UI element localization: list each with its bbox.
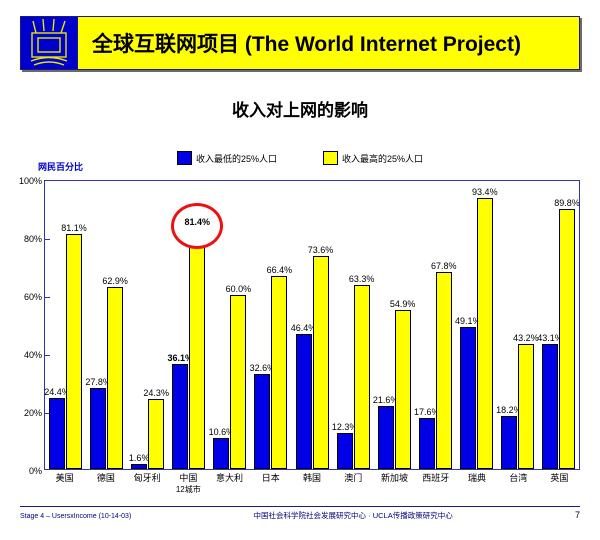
bar-group: 17.6%67.8% <box>415 181 456 469</box>
bar: 49.1% <box>460 327 476 469</box>
bar: 60.0% <box>230 295 246 469</box>
bar-value-label: 1.6% <box>129 453 150 463</box>
header-banner: 全球互联网项目 (The World Internet Project) <box>20 16 580 70</box>
y-axis-tick-label: 40% <box>24 350 42 360</box>
footer-left-text: Stage 4 – UsersxIncome (10-14-03) <box>20 513 131 520</box>
bar-group: 32.6%66.4% <box>250 181 291 469</box>
bar: 67.8% <box>436 272 452 469</box>
bar-value-label: 63.3% <box>349 274 375 284</box>
bar: 43.2% <box>518 344 534 469</box>
footer-center-text: 中国社会科学院社会发展研究中心 · UCLA传播政策研究中心 <box>131 510 575 521</box>
bar-value-label: 73.6% <box>308 245 334 255</box>
bar-value-label: 54.9% <box>390 299 416 309</box>
bar: 89.8% <box>559 209 575 469</box>
bar-group: 18.2%43.2% <box>497 181 538 469</box>
bar-value-label: 93.4% <box>472 187 498 197</box>
legend-label-high-income: 收入最高的25%人口 <box>342 152 423 165</box>
bar: 36.1% <box>172 364 188 469</box>
legend-swatch-yellow-icon <box>323 151 338 165</box>
bar-value-label: 43.2% <box>513 333 539 343</box>
x-axis-label: 澳门 <box>333 473 374 495</box>
bar-group: 1.6%24.3% <box>127 181 168 469</box>
y-axis-tick-label: 20% <box>24 408 42 418</box>
y-axis-tick-label: 0% <box>29 466 42 476</box>
bar <box>189 233 205 469</box>
y-axis-tick-label: 100% <box>19 176 42 186</box>
x-axis-label: 西班牙 <box>415 473 456 495</box>
x-axis-label: 中国12城市 <box>168 473 209 495</box>
bar-group: 24.4%81.1% <box>45 181 86 469</box>
bar: 1.6% <box>131 464 147 469</box>
bar-value-label: 67.8% <box>431 261 457 271</box>
chart-plot-area: 0%20%40%60%80%100% 24.4%81.1%27.8%62.9%1… <box>44 180 580 470</box>
footer-divider <box>20 506 580 507</box>
bar-group: 12.3%63.3% <box>333 181 374 469</box>
legend-item-low-income: 收入最低的25%人口 <box>177 151 277 165</box>
y-axis-caption: 网民百分比 <box>38 160 83 173</box>
bar: 21.6% <box>378 406 394 469</box>
bar: 17.6% <box>419 418 435 469</box>
bar: 46.4% <box>296 334 312 469</box>
x-axis-label: 英国 <box>539 473 580 495</box>
bar-value-label: 66.4% <box>267 265 293 275</box>
bar: 93.4% <box>477 198 493 469</box>
chart-legend: 收入最低的25%人口 收入最高的25%人口 <box>0 151 600 165</box>
bar: 62.9% <box>107 287 123 469</box>
bar: 81.1% <box>66 234 82 469</box>
x-axis-label: 美国 <box>44 473 85 495</box>
x-axis-label: 意大利 <box>209 473 250 495</box>
bar: 43.1% <box>542 344 558 469</box>
x-axis-sublabel: 12城市 <box>168 484 209 495</box>
bar-group: 46.4%73.6% <box>291 181 332 469</box>
bar: 54.9% <box>395 310 411 469</box>
legend-item-high-income: 收入最高的25%人口 <box>323 151 423 165</box>
banner-title: 全球互联网项目 (The World Internet Project) <box>78 17 579 69</box>
x-axis-label: 德国 <box>85 473 126 495</box>
x-axis-label: 台湾 <box>498 473 539 495</box>
x-axis-label: 匈牙利 <box>126 473 167 495</box>
legend-label-low-income: 收入最低的25%人口 <box>196 152 277 165</box>
bar-value-label: 60.0% <box>226 284 252 294</box>
bar-group: 43.1%89.8% <box>538 181 579 469</box>
bar: 32.6% <box>254 374 270 469</box>
x-axis-label: 韩国 <box>291 473 332 495</box>
footer-page-number: 7 <box>575 510 580 520</box>
y-axis-tick-label: 80% <box>24 234 42 244</box>
x-axis-label: 瑞典 <box>456 473 497 495</box>
monitor-globe-icon <box>21 17 78 69</box>
bar-groups: 24.4%81.1%27.8%62.9%1.6%24.3%36.1%10.6%6… <box>45 181 579 469</box>
bar: 12.3% <box>337 433 353 469</box>
bar: 27.8% <box>90 388 106 469</box>
bar: 24.3% <box>148 399 164 469</box>
bar: 63.3% <box>354 285 370 469</box>
bar: 73.6% <box>313 256 329 469</box>
bar: 24.4% <box>49 398 65 469</box>
bar-value-label: 62.9% <box>102 276 128 286</box>
footer: Stage 4 – UsersxIncome (10-14-03) 中国社会科学… <box>20 510 580 521</box>
x-axis-labels: 美国德国匈牙利中国12城市意大利日本韩国澳门新加坡西班牙瑞典台湾英国 <box>44 473 580 495</box>
bar-group: 49.1%93.4% <box>456 181 497 469</box>
bar-value-label: 24.3% <box>143 388 169 398</box>
bar-value-label: 81.1% <box>61 223 87 233</box>
bar: 66.4% <box>271 276 287 469</box>
highlight-value-label: 81.4% <box>171 217 223 227</box>
bar: 10.6% <box>213 438 229 469</box>
bar: 18.2% <box>501 416 517 469</box>
bar-value-label: 89.8% <box>554 198 580 208</box>
bar-group: 21.6%54.9% <box>374 181 415 469</box>
bar-group: 27.8%62.9% <box>86 181 127 469</box>
y-axis-tick-label: 60% <box>24 292 42 302</box>
x-axis-label: 日本 <box>250 473 291 495</box>
legend-swatch-blue-icon <box>177 151 192 165</box>
x-axis-label: 新加坡 <box>374 473 415 495</box>
chart-title: 收入对上网的影响 <box>0 96 600 121</box>
